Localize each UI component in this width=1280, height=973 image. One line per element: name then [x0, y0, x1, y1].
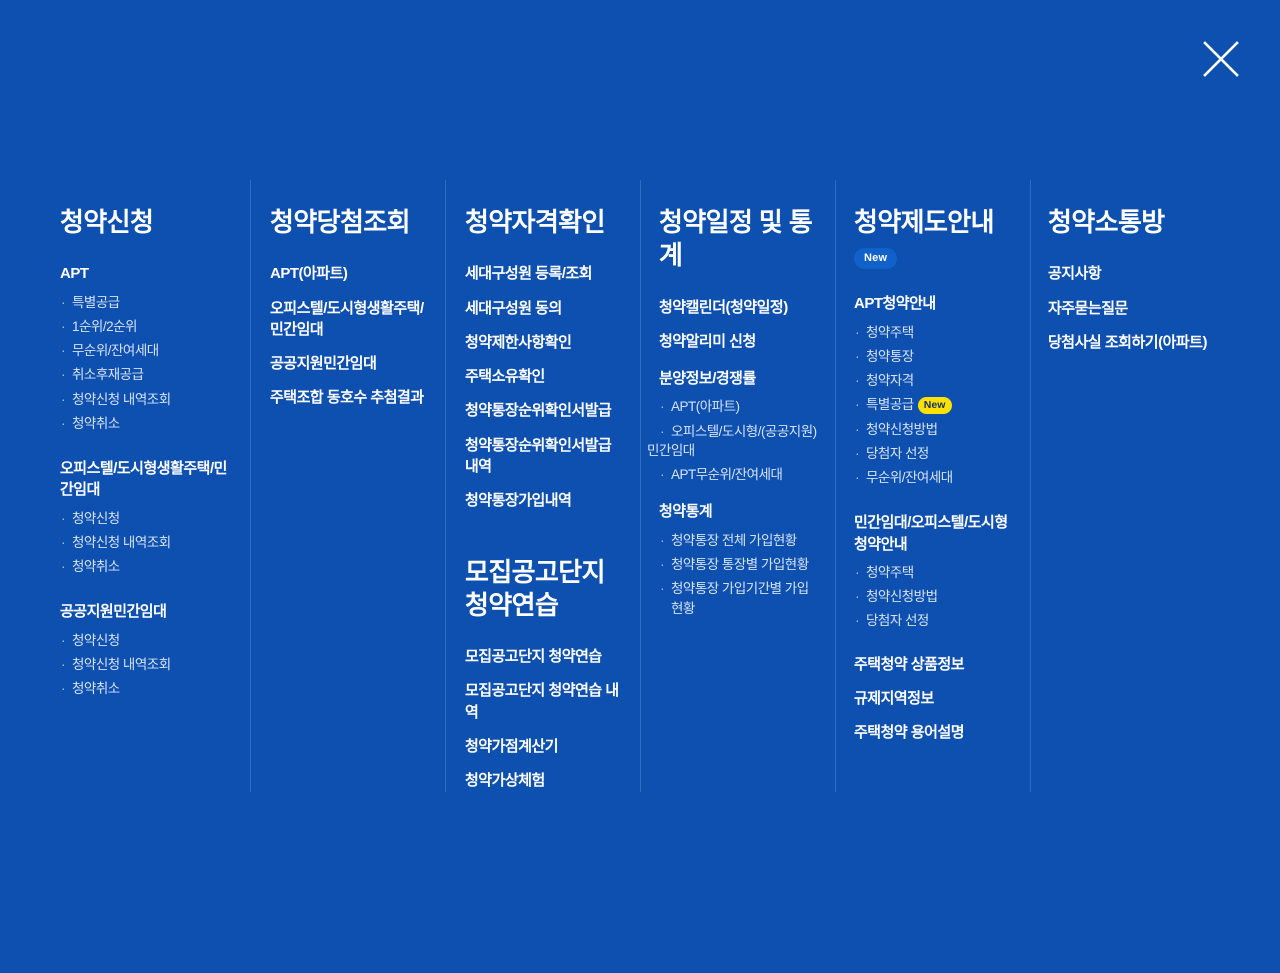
sub-list: 청약통장 전체 가입현황 청약통장 통장별 가입현황 청약통장 가입기간별 가입…	[659, 531, 817, 620]
column-title[interactable]: 청약소통방	[1048, 206, 1262, 239]
menu-column-winner-lookup: 청약당첨조회 APT(아파트) 오피스텔/도시형생활주택/민간임대 공공지원민간…	[250, 180, 445, 792]
column-title[interactable]: 청약자격확인	[465, 206, 622, 239]
group-heading[interactable]: APT	[60, 263, 232, 284]
menu-group-public-support-rental: 공공지원민간임대 청약신청 청약신청 내역조회 청약취소	[60, 601, 232, 699]
list-item[interactable]: 오피스텔/도시형/(공공지원)	[659, 422, 817, 442]
list-item[interactable]: 취소후재공급	[60, 365, 232, 385]
menu-group-rental-guide: 민간임대/오피스텔/도시형 청약안내 청약주택 청약신청방법 당첨자 선정	[854, 512, 1012, 631]
list-item-continuation[interactable]: 민간임대	[647, 441, 817, 461]
menu-link[interactable]: 규제지역정보	[854, 688, 1012, 709]
list-item[interactable]: 1순위/2순위	[60, 317, 232, 337]
list-item[interactable]: 청약신청 내역조회	[60, 390, 232, 410]
menu-link[interactable]: 주택조합 동호수 추첨결과	[270, 387, 427, 408]
menu-link[interactable]: 주택청약 용어설명	[854, 722, 1012, 743]
menu-link[interactable]: 청약가점계산기	[465, 736, 622, 757]
list-item[interactable]: 청약통장 통장별 가입현황	[659, 555, 817, 575]
mega-menu-overlay: 청약신청 APT 특별공급 1순위/2순위 무순위/잔여세대 취소후재공급 청약…	[0, 0, 1280, 973]
menu-group-apt: APT 특별공급 1순위/2순위 무순위/잔여세대 취소후재공급 청약신청 내역…	[60, 263, 232, 434]
menu-link[interactable]: 청약통장순위확인서발급	[465, 400, 622, 421]
list-item[interactable]: 당첨자 선정	[854, 611, 1012, 631]
menu-link[interactable]: 청약제한사항확인	[465, 332, 622, 353]
sub-list: 청약신청 청약신청 내역조회 청약취소	[60, 631, 232, 700]
list-item[interactable]: 청약통장 전체 가입현황	[659, 531, 817, 551]
status-badge-new: New	[854, 248, 897, 269]
list-item[interactable]: 청약신청방법	[854, 587, 1012, 607]
menu-link[interactable]: 주택청약 상품정보	[854, 654, 1012, 675]
link-list-secondary: 모집공고단지 청약연습 모집공고단지 청약연습 내역 청약가점계산기 청약가상체…	[465, 646, 622, 791]
menu-column-system-guide: 청약제도안내 New APT청약안내 청약주택 청약통장 청약자격 특별공급Ne…	[835, 180, 1030, 792]
menu-link[interactable]: 자주묻는질문	[1048, 298, 1262, 319]
list-item[interactable]: 청약신청방법	[854, 420, 1012, 440]
list-item-with-badge[interactable]: 특별공급New	[854, 395, 1012, 415]
list-item[interactable]: 청약취소	[60, 679, 232, 699]
list-item[interactable]: 청약통장 가입기간별 가입현황	[659, 579, 817, 620]
list-item[interactable]: 청약주택	[854, 323, 1012, 343]
list-item[interactable]: 청약취소	[60, 414, 232, 434]
list-item[interactable]: 청약신청 내역조회	[60, 533, 232, 553]
menu-column-community: 청약소통방 공지사항 자주묻는질문 당첨사실 조회하기(아파트)	[1030, 180, 1280, 792]
list-item[interactable]: 특별공급	[60, 293, 232, 313]
menu-link[interactable]: 청약통장가입내역	[465, 490, 622, 511]
menu-link[interactable]: 주택소유확인	[465, 366, 622, 387]
sub-list: 청약주택 청약통장 청약자격 특별공급New 청약신청방법 당첨자 선정 무순위…	[854, 323, 1012, 489]
sub-list: 특별공급 1순위/2순위 무순위/잔여세대 취소후재공급 청약신청 내역조회 청…	[60, 293, 232, 435]
menu-group-sale-info: 분양정보/경쟁률 APT(아파트) 오피스텔/도시형/(공공지원) 민간임대 A…	[659, 368, 817, 485]
list-item[interactable]: 당첨자 선정	[854, 444, 1012, 464]
menu-link[interactable]: 공공지원민간임대	[270, 353, 427, 374]
column-title[interactable]: 청약당첨조회	[270, 206, 427, 239]
list-item[interactable]: 청약취소	[60, 557, 232, 577]
list-item-label: 특별공급	[866, 397, 914, 412]
list-item[interactable]: 청약신청	[60, 509, 232, 529]
link-list: 공지사항 자주묻는질문 당첨사실 조회하기(아파트)	[1048, 263, 1262, 353]
menu-link[interactable]: 세대구성원 등록/조회	[465, 263, 622, 284]
list-item[interactable]: 청약주택	[854, 563, 1012, 583]
list-item[interactable]: 무순위/잔여세대	[60, 341, 232, 361]
menu-group-officetel: 오피스텔/도시형생활주택/민간임대 청약신청 청약신청 내역조회 청약취소	[60, 458, 232, 577]
link-list: 세대구성원 등록/조회 세대구성원 동의 청약제한사항확인 주택소유확인 청약통…	[465, 263, 622, 511]
link-list: 청약캘린더(청약일정) 청약알리미 신청	[659, 297, 817, 353]
menu-link[interactable]: 모집공고단지 청약연습	[465, 646, 622, 667]
group-heading[interactable]: 청약통계	[659, 501, 817, 522]
list-item[interactable]: APT(아파트)	[659, 397, 817, 417]
menu-link[interactable]: 청약캘린더(청약일정)	[659, 297, 817, 318]
status-badge-new: New	[918, 397, 952, 414]
menu-link[interactable]: 오피스텔/도시형생활주택/민간임대	[270, 298, 427, 341]
list-item[interactable]: 청약신청	[60, 631, 232, 651]
menu-column-subscription-apply: 청약신청 APT 특별공급 1순위/2순위 무순위/잔여세대 취소후재공급 청약…	[0, 180, 250, 792]
link-list: APT(아파트) 오피스텔/도시형생활주택/민간임대 공공지원민간임대 주택조합…	[270, 263, 427, 408]
sub-list: 청약주택 청약신청방법 당첨자 선정	[854, 563, 1012, 632]
menu-group-statistics: 청약통계 청약통장 전체 가입현황 청약통장 통장별 가입현황 청약통장 가입기…	[659, 501, 817, 619]
group-heading[interactable]: 민간임대/오피스텔/도시형 청약안내	[854, 512, 1012, 555]
menu-column-schedule-stats: 청약일정 및 통계 청약캘린더(청약일정) 청약알리미 신청 분양정보/경쟁률 …	[640, 180, 835, 792]
menu-link[interactable]: 청약통장순위확인서발급 내역	[465, 435, 622, 478]
group-heading[interactable]: 분양정보/경쟁률	[659, 368, 817, 389]
list-item[interactable]: APT무순위/잔여세대	[659, 465, 817, 485]
menu-link[interactable]: 청약가상체험	[465, 770, 622, 791]
group-heading[interactable]: 오피스텔/도시형생활주택/민간임대	[60, 458, 232, 501]
menu-link[interactable]: 공지사항	[1048, 263, 1262, 284]
menu-columns: 청약신청 APT 특별공급 1순위/2순위 무순위/잔여세대 취소후재공급 청약…	[0, 180, 1280, 788]
column-title[interactable]: 청약일정 및 통계	[659, 206, 817, 273]
list-item[interactable]: 청약통장	[854, 347, 1012, 367]
menu-link[interactable]: 세대구성원 동의	[465, 298, 622, 319]
list-item[interactable]: 청약신청 내역조회	[60, 655, 232, 675]
group-heading[interactable]: APT청약안내	[854, 293, 1012, 314]
sub-list: APT(아파트) 오피스텔/도시형/(공공지원) 민간임대 APT무순위/잔여세…	[659, 397, 817, 485]
close-icon[interactable]	[1198, 36, 1244, 82]
menu-group-apt-guide: APT청약안내 청약주택 청약통장 청약자격 특별공급New 청약신청방법 당첨…	[854, 293, 1012, 488]
list-item[interactable]: 무순위/잔여세대	[854, 468, 1012, 488]
menu-link[interactable]: APT(아파트)	[270, 263, 427, 284]
menu-link[interactable]: 청약알리미 신청	[659, 331, 817, 352]
badge-row: New	[854, 248, 1012, 269]
column-title[interactable]: 청약신청	[60, 206, 232, 239]
menu-link[interactable]: 모집공고단지 청약연습 내역	[465, 680, 622, 723]
list-item[interactable]: 청약자격	[854, 371, 1012, 391]
menu-column-eligibility: 청약자격확인 세대구성원 등록/조회 세대구성원 동의 청약제한사항확인 주택소…	[445, 180, 640, 792]
menu-link[interactable]: 당첨사실 조회하기(아파트)	[1048, 332, 1262, 353]
column-title-secondary[interactable]: 모집공고단지 청약연습	[465, 556, 622, 623]
group-heading[interactable]: 공공지원민간임대	[60, 601, 232, 622]
link-list-bottom: 주택청약 상품정보 규제지역정보 주택청약 용어설명	[854, 654, 1012, 744]
sub-list: 청약신청 청약신청 내역조회 청약취소	[60, 509, 232, 578]
column-title[interactable]: 청약제도안내	[854, 206, 1012, 239]
